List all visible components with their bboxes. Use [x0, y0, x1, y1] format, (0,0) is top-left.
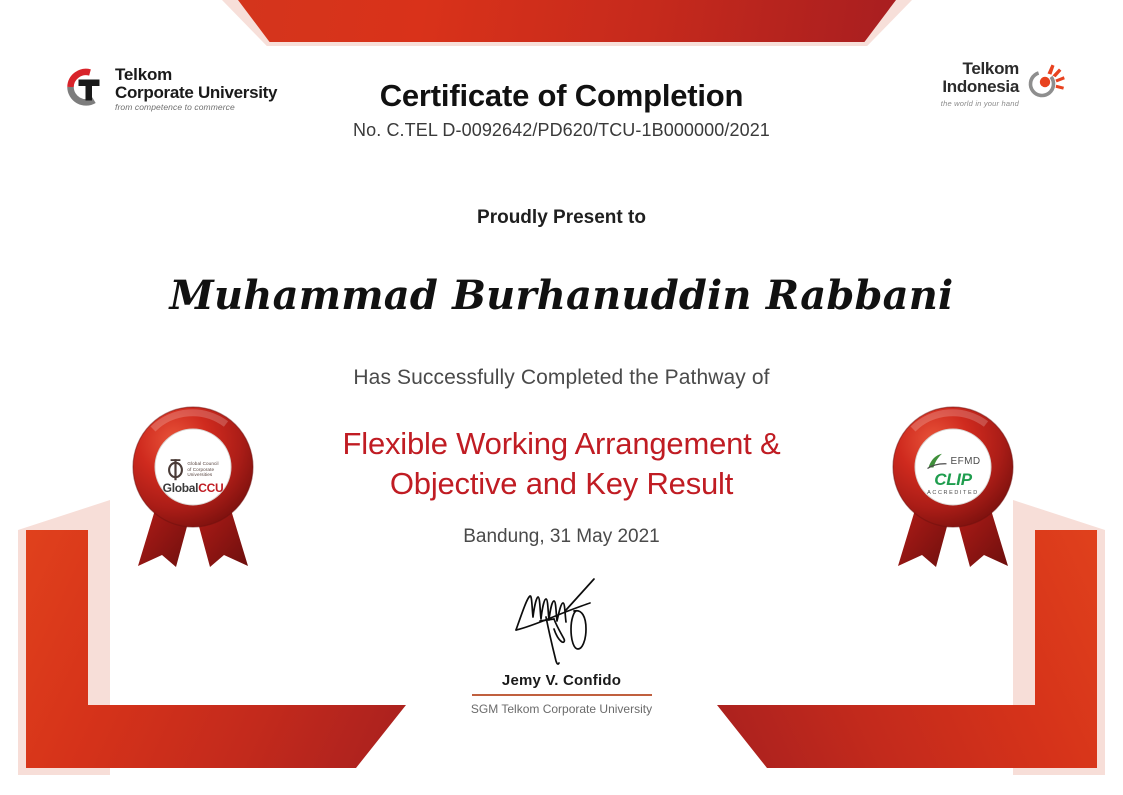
efmd-clip-seal-content: EFMD CLIP ACCREDITED	[898, 452, 1008, 496]
globalccu-subtitle-line-3: Universities	[187, 472, 218, 478]
globalccu-word-ccu: CCU	[198, 481, 223, 495]
globalccu-subtitle-line-1: Global Council	[187, 461, 218, 467]
clip-wordmark: CLIP	[898, 471, 1008, 489]
efmd-brand-row: EFMD	[898, 452, 1008, 470]
globalccu-subtitle: Global Council of Corporate Universities	[187, 461, 218, 478]
recipient-name: Muhammad Burhanuddin Rabbani	[0, 272, 1123, 319]
clip-accredited-label: ACCREDITED	[898, 490, 1008, 496]
seal-efmd-clip: EFMD CLIP ACCREDITED	[878, 404, 1028, 574]
signature-block: Jemy V. Confido SGM Telkom Corporate Uni…	[0, 565, 1123, 716]
signer-name: Jemy V. Confido	[0, 672, 1123, 689]
certificate-page: Telkom Corporate University from compete…	[0, 0, 1123, 795]
certificate-title: Certificate of Completion	[0, 78, 1123, 114]
top-banner-red	[238, 0, 896, 42]
efmd-leaf-icon	[926, 452, 948, 470]
globalccu-seal-content: Global Council of Corporate Universities…	[138, 458, 248, 494]
present-to-label: Proudly Present to	[0, 207, 1123, 229]
globalccu-wordmark: GlobalCCU	[138, 482, 248, 494]
phi-symbol-icon	[167, 458, 184, 481]
top-banner-pink-accent	[222, 0, 912, 46]
handwritten-signature-icon	[502, 565, 622, 670]
certificate-number: No. C.TEL D-0092642/PD620/TCU-1B000000/2…	[0, 120, 1123, 141]
seal-globalccu: Global Council of Corporate Universities…	[118, 404, 268, 574]
signature-rule	[472, 694, 652, 696]
globalccu-symbol-row: Global Council of Corporate Universities	[138, 458, 248, 481]
telkom-logo-line-1: Telkom	[941, 60, 1019, 78]
signer-role: SGM Telkom Corporate University	[0, 702, 1123, 716]
globalccu-word-global: Global	[163, 481, 199, 495]
completion-label: Has Successfully Completed the Pathway o…	[0, 366, 1123, 390]
efmd-brand-label: EFMD	[951, 456, 981, 467]
